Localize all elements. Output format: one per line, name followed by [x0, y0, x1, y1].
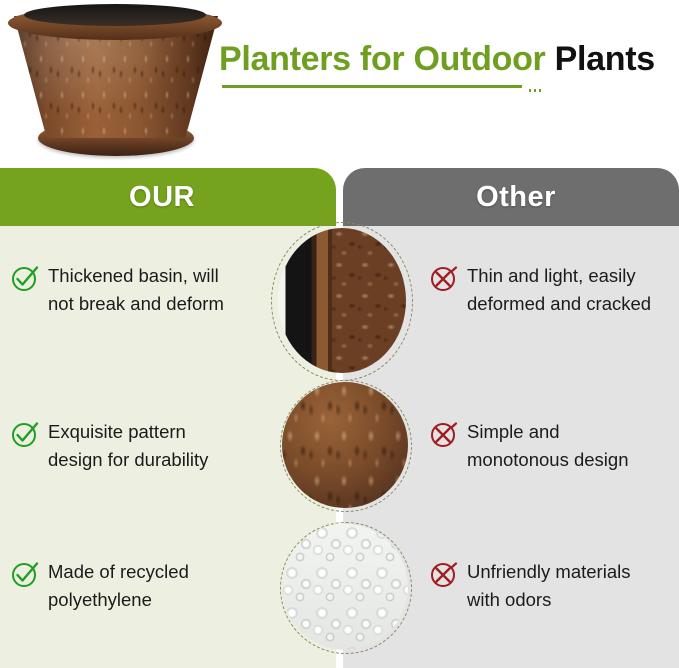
center-image-pebble-pattern: [282, 382, 408, 508]
title-secondary: Plants: [555, 40, 655, 78]
x-circle-icon: [430, 560, 458, 588]
x-circle-icon: [430, 420, 458, 448]
center-image-polyethylene-pellets: [282, 524, 408, 650]
feature-other-3-label: Unfriendly materials with odors: [467, 558, 630, 614]
pebble-texture: [282, 382, 408, 508]
page-title: Planters for Outdoor Plants: [219, 38, 675, 88]
pellet-texture: [282, 524, 408, 650]
feature-other-1-label: Thin and light, easily deformed and crac…: [467, 262, 651, 318]
header-band: Planters for Outdoor Plants: [0, 0, 679, 168]
tab-other-label: Other: [476, 181, 556, 214]
feature-other-1: Thin and light, easily deformed and crac…: [430, 262, 679, 318]
feature-our-2: Exquisite pattern design for durability: [11, 418, 273, 474]
tab-other[interactable]: Other: [343, 168, 679, 226]
feature-other-2-label: Simple and monotonous design: [467, 418, 628, 474]
feature-our-3-label: Made of recycled polyethylene: [48, 558, 189, 614]
pot-inner-opening: [24, 4, 206, 26]
feature-other-3: Unfriendly materials with odors: [430, 558, 679, 614]
title-primary: Planters for Outdoor: [219, 40, 545, 78]
product-image-planter-pot: [4, 2, 226, 164]
check-circle-icon: [11, 420, 39, 448]
feature-our-1-label: Thickened basin, will not break and defo…: [48, 262, 224, 318]
title-underline: [222, 85, 522, 88]
check-circle-icon: [11, 264, 39, 292]
x-circle-icon: [430, 264, 458, 292]
tab-our-label: OUR: [129, 181, 195, 214]
infographic-page: Planters for Outdoor Plants OUR Other: [0, 0, 679, 668]
feature-our-3: Made of recycled polyethylene: [11, 558, 273, 614]
title-underline-dots: [529, 89, 541, 92]
pot-wall-texture: [332, 228, 406, 373]
feature-other-2: Simple and monotonous design: [430, 418, 679, 474]
feature-our-1: Thickened basin, will not break and defo…: [11, 262, 273, 318]
feature-our-2-label: Exquisite pattern design for durability: [48, 418, 208, 474]
check-circle-icon: [11, 560, 39, 588]
tab-our[interactable]: OUR: [0, 168, 336, 226]
center-image-pot-wall-thickness: [278, 228, 406, 373]
